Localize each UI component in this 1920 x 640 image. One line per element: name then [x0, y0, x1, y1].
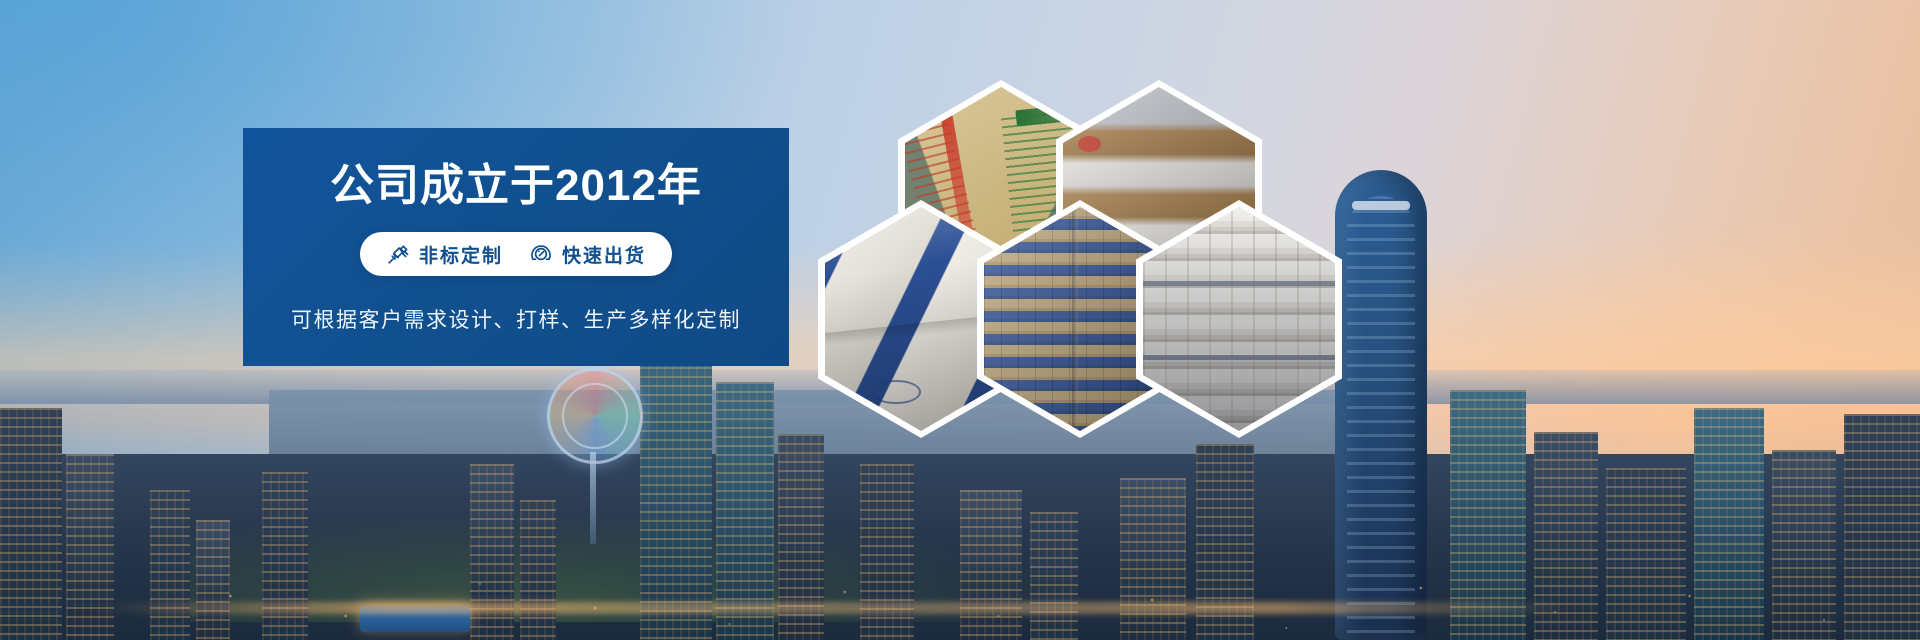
pallet-corner-edge — [1072, 207, 1078, 431]
building — [196, 520, 230, 640]
building — [150, 490, 190, 640]
building — [1694, 408, 1764, 640]
sack-brand-mark — [871, 380, 921, 405]
building — [1030, 512, 1078, 640]
speedometer-icon — [529, 242, 553, 266]
building — [0, 408, 62, 640]
building — [640, 340, 712, 640]
road-light-trail — [96, 602, 1574, 614]
rack-shelf-bar — [1143, 281, 1335, 286]
building — [1844, 414, 1920, 640]
headline-panel: 公司成立于2012年 非标定制 — [243, 128, 789, 366]
red-label-mark — [1078, 136, 1101, 152]
ferris-wheel-icon — [547, 368, 643, 464]
feature-badge-shipping[interactable]: 快速出货 — [529, 241, 646, 268]
page-subtitle: 可根据客户需求设计、打样、生产多样化定制 — [243, 304, 789, 334]
ruler-pen-icon — [386, 242, 410, 266]
building — [1772, 450, 1836, 640]
building — [1606, 468, 1686, 640]
landmark-tower — [1335, 170, 1427, 640]
rack-shelf-bar — [1143, 355, 1335, 360]
ferris-wheel-support — [590, 452, 596, 544]
product-hexagon-gallery — [780, 80, 1340, 440]
feature-badge-label: 快速出货 — [562, 241, 646, 268]
feature-badge-group: 非标定制 快速出货 — [360, 232, 672, 276]
feature-badge-custom[interactable]: 非标定制 — [386, 241, 503, 268]
page-title: 公司成立于2012年 — [243, 164, 789, 208]
tower-antenna — [1352, 201, 1410, 210]
building — [520, 500, 556, 640]
building — [262, 472, 308, 640]
photo-warehouse-rack-sacks — [1143, 207, 1335, 431]
hero-banner: 公司成立于2012年 非标定制 — [0, 0, 1920, 640]
building — [1120, 478, 1186, 640]
building — [960, 490, 1022, 640]
feature-badge-label: 非标定制 — [419, 241, 503, 268]
